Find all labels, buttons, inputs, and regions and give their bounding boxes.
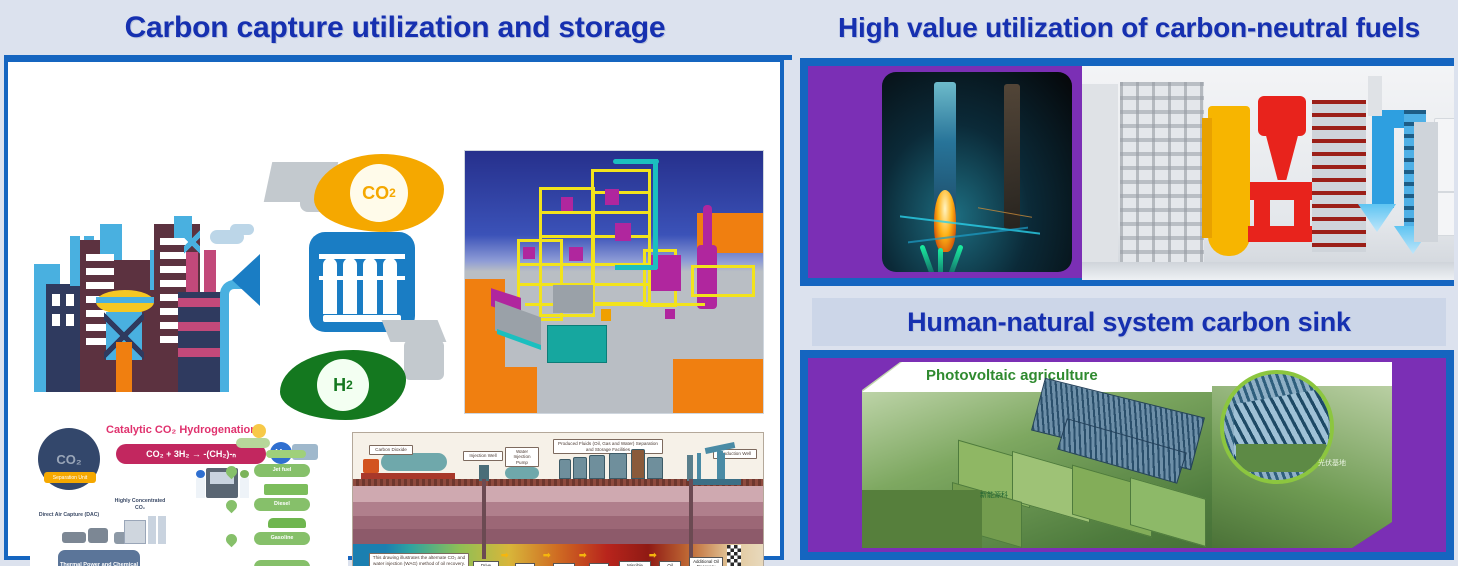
boiler-cad-image — [1082, 66, 1454, 280]
co2-cloud-label: CO₂ — [56, 452, 81, 467]
header-carbon-neutral-fuels: High value utilization of carbon-neutral… — [800, 2, 1458, 54]
carbon-neutral-fuels-panel — [800, 58, 1454, 286]
pv-chinese-label-1: 新能源科 — [980, 490, 1008, 500]
co2-subscript: 2 — [389, 186, 396, 200]
ccus-panel: CO2 H2 — [4, 58, 784, 560]
co2-text: CO — [362, 183, 389, 204]
pv-chinese-label-2: 光伏基地 — [1318, 458, 1346, 468]
photovoltaic-agriculture-label: Photovoltaic agriculture — [926, 367, 1098, 384]
zone-miscible: Miscible Zone — [619, 561, 651, 566]
product-pill-diesel: Diesel — [254, 498, 310, 511]
separation-unit-label: Separation Unit — [44, 472, 96, 483]
co2-label: CO2 — [350, 164, 408, 222]
co2-eor-cross-section: Carbon Dioxide Injection Well Water Inje… — [352, 432, 764, 566]
header-ccus: Carbon capture utilization and storage — [0, 2, 790, 54]
zone-drive-water: Drive Water — [473, 561, 499, 566]
h2-label: H2 — [317, 359, 369, 411]
product-pill-gasoline: Gasoline — [254, 532, 310, 545]
h2-badge: H2 — [280, 350, 406, 420]
tag-injection-well: Injection Well — [463, 451, 503, 461]
reactor-icon — [309, 232, 415, 332]
process-arrow-icon — [232, 254, 260, 306]
poster-root: Carbon capture utilization and storage H… — [0, 0, 1458, 566]
tag-carbon-dioxide: Carbon Dioxide — [369, 445, 413, 455]
zone-additional-recovery: Additional Oil Recovery — [689, 557, 723, 566]
photovoltaic-agriculture-image: Photovoltaic agriculture 新能源科 光伏基地 — [862, 362, 1392, 548]
h2-text: H — [333, 375, 346, 396]
tag-water-injection-pump: Water Injection Pump — [505, 447, 539, 467]
greenhouse-closeup-circle — [1220, 370, 1334, 484]
tag-produced-fluids: Produced Fluids (Oil, Gas and Water) Sep… — [553, 439, 663, 454]
pumpjack-icon — [689, 445, 741, 485]
highly-concentrated-co2-label: Highly Concentrated CO₂ — [110, 498, 170, 511]
product-pill-chemicals: Methane, Olefin, Formic acid, Methanol — [254, 560, 310, 566]
plant-3d-cad-image — [464, 150, 764, 414]
industrial-city-illustration — [34, 202, 249, 392]
catalytic-hydrogenation-infographic: Catalytic CO₂ Hydrogenation CO₂ + 3H₂ → … — [30, 420, 348, 566]
direct-air-capture-label: Direct Air Capture (DAC) — [38, 512, 100, 519]
co2-h2-conversion-diagram: CO2 H2 — [254, 154, 454, 410]
product-pill-jet-fuel: Jet fuel — [254, 464, 310, 477]
eor-caption: This drawing illustrates the alternate C… — [369, 553, 469, 566]
zone-oil-bank: Oil Bank — [659, 561, 681, 566]
emission-sources-label: Thermal Power and Chemical Plants Steel … — [58, 550, 140, 566]
carbon-sink-panel: Photovoltaic agriculture 新能源科 光伏基地 — [800, 350, 1454, 560]
combustion-simulation-image — [882, 72, 1072, 272]
header-carbon-sink: Human-natural system carbon sink — [812, 298, 1446, 346]
catalytic-title: Catalytic CO₂ Hydrogenation — [106, 424, 257, 436]
h2-subscript: 2 — [346, 378, 353, 392]
